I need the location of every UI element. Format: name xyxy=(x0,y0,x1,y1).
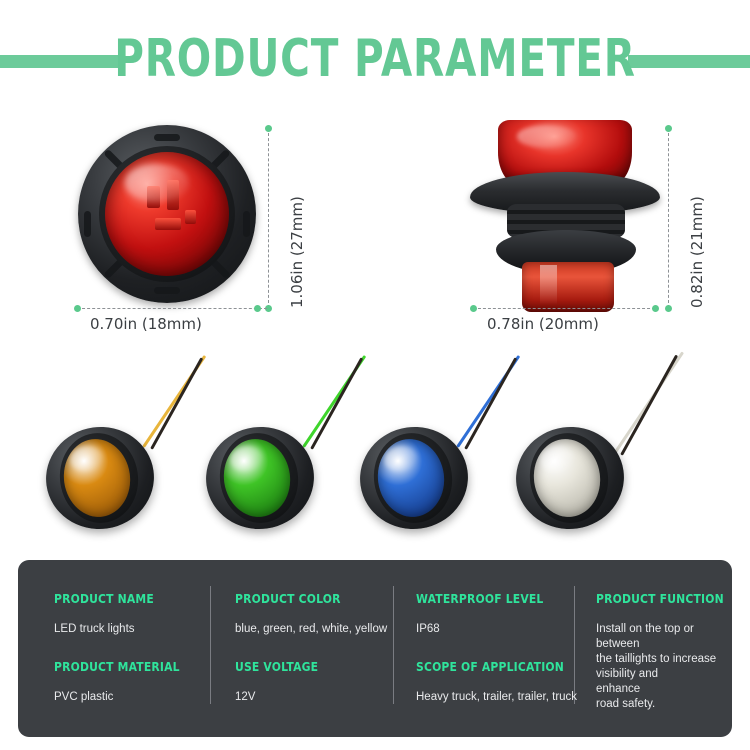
spec-label: PRODUCT MATERIAL xyxy=(54,660,180,674)
spec-value: blue, green, red, white, yellow xyxy=(235,622,387,637)
column-divider xyxy=(210,586,211,704)
dimension-line-horizontal-right xyxy=(473,308,655,309)
spec-cell-waterproof-level: WATERPROOF LEVEL IP68 xyxy=(416,592,558,637)
dimension-label-width-left: 0.70in (18mm) xyxy=(90,315,202,333)
variant-lamp-white xyxy=(508,365,648,535)
header: PRODUCT PARAMETER xyxy=(0,28,750,90)
wire-black xyxy=(620,355,678,456)
dimension-dot xyxy=(665,305,672,312)
wire-black xyxy=(150,357,203,449)
dimension-label-height-left: 1.06in (27mm) xyxy=(288,196,306,308)
spec-cell-product-name: PRODUCT NAME LED truck lights xyxy=(54,592,165,637)
variant-lamp-green xyxy=(198,365,338,535)
spec-value: PVC plastic xyxy=(54,690,194,705)
spec-cell-product-material: PRODUCT MATERIAL PVC plastic xyxy=(54,660,194,705)
color-variants-row xyxy=(0,355,750,550)
page-title: PRODUCT PARAMETER xyxy=(83,28,668,90)
lamp-lens-red xyxy=(105,152,229,276)
lamp-base-red xyxy=(522,262,614,312)
column-divider xyxy=(393,586,394,704)
dimension-dot xyxy=(265,125,272,132)
spec-cell-product-function: PRODUCT FUNCTION Install on the top or b… xyxy=(596,592,726,712)
dimension-label-height-right: 0.82in (21mm) xyxy=(688,196,706,308)
spec-value: 12V xyxy=(235,690,328,705)
spec-label: WATERPROOF LEVEL xyxy=(416,592,544,606)
spec-label: PRODUCT FUNCTION xyxy=(596,592,713,606)
dimension-dot xyxy=(665,125,672,132)
dimension-label-width-right: 0.78in (20mm) xyxy=(487,315,599,333)
spec-value: Install on the top or between the tailli… xyxy=(596,622,726,712)
spec-label: USE VOLTAGE xyxy=(235,660,318,674)
spec-label: PRODUCT COLOR xyxy=(235,592,372,606)
product-image-front-view xyxy=(78,125,256,303)
spec-label: PRODUCT NAME xyxy=(54,592,154,606)
variant-lamp-yellow xyxy=(38,365,178,535)
spec-label: SCOPE OF APPLICATION xyxy=(416,660,564,674)
spec-cell-use-voltage: USE VOLTAGE 12V xyxy=(235,660,328,705)
dimension-dot xyxy=(254,305,261,312)
dimension-dot xyxy=(74,305,81,312)
dimension-line-vertical-right xyxy=(668,128,669,308)
dimension-line-horizontal-left xyxy=(77,308,267,309)
spec-value: Heavy truck, trailer, trailer, truck xyxy=(416,690,580,705)
dimension-line-vertical-left xyxy=(268,128,269,308)
dimension-diagram: 1.06in (27mm) 0.70in (18mm) 0.82in (21mm… xyxy=(0,100,750,355)
variant-lamp-blue xyxy=(352,365,492,535)
dimension-dot xyxy=(470,305,477,312)
spec-cell-scope-of-application: SCOPE OF APPLICATION Heavy truck, traile… xyxy=(416,660,580,705)
dimension-dot xyxy=(652,305,659,312)
spec-cell-product-color: PRODUCT COLOR blue, green, red, white, y… xyxy=(235,592,387,637)
spec-value: LED truck lights xyxy=(54,622,165,637)
spec-value: IP68 xyxy=(416,622,558,637)
specification-panel: PRODUCT NAME LED truck lights PRODUCT CO… xyxy=(18,560,732,737)
product-parameter-infographic: PRODUCT PARAMETER 1.06in (27mm) xyxy=(0,0,750,750)
product-image-angled-view xyxy=(470,120,660,315)
